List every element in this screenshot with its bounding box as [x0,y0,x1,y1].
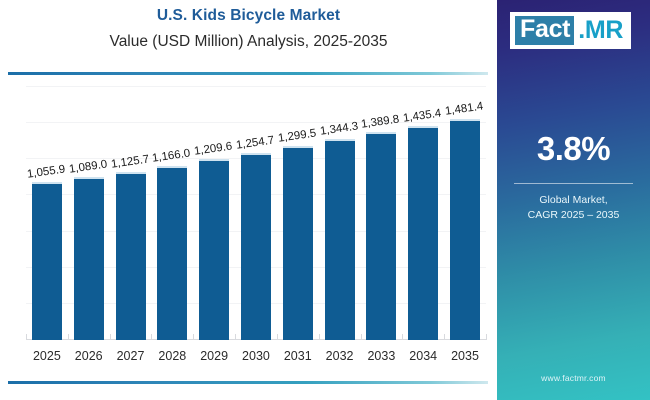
bar-slot: 1,481.4 [444,86,486,340]
tick-mark [361,334,362,340]
bar-value-label: 1,055.9 [26,164,66,181]
bar-slot: 1,055.9 [26,86,68,340]
cagr-value: 3.8% [497,130,650,168]
chart-header: U.S. Kids Bicycle Market Value (USD Mill… [0,6,497,53]
x-tick: 2035 [444,340,486,370]
tick-mark [277,334,278,340]
x-tick: 2030 [235,340,277,370]
x-tick-label: 2031 [277,340,319,363]
x-tick-label: 2026 [68,340,110,363]
page-subtitle: Value (USD Million) Analysis, 2025-2035 [0,31,497,53]
bar-slot: 1,089.0 [68,86,110,340]
bar-slot: 1,299.5 [277,86,319,340]
cagr-caption-line-1: Global Market, [497,193,650,208]
cagr-divider [514,183,633,184]
factmr-logo[interactable]: Fact .MR [510,12,631,49]
bar-value-label: 1,344.3 [319,121,359,138]
x-tick-label: 2029 [193,340,235,363]
chart-panel: U.S. Kids Bicycle Market Value (USD Mill… [0,0,497,400]
x-tick-label: 2028 [151,340,193,363]
x-tick: 2034 [402,340,444,370]
x-tick: 2032 [319,340,361,370]
tick-mark [110,334,111,340]
x-tick: 2028 [151,340,193,370]
bar[interactable] [366,132,396,340]
bar[interactable] [283,146,313,340]
x-tick-label: 2032 [319,340,361,363]
bar[interactable] [325,139,355,340]
bar-slot: 1,125.7 [110,86,152,340]
x-tick-label: 2030 [235,340,277,363]
bar-value-label: 1,254.7 [235,134,275,151]
bar-value-label: 1,481.4 [444,100,484,117]
tick-mark [68,334,69,340]
website-url: www.factmr.com [497,373,650,383]
bar-value-label: 1,389.8 [361,114,401,131]
tick-mark [26,334,27,340]
x-tick: 2029 [193,340,235,370]
x-tick-label: 2035 [444,340,486,363]
logo-fact-text: Fact [514,15,575,46]
bar-slot: 1,389.8 [361,86,403,340]
tick-mark [444,334,445,340]
bar-value-label: 1,209.6 [193,141,233,158]
x-tick-label: 2025 [26,340,68,363]
bar[interactable] [32,182,62,340]
bar-slot: 1,344.3 [319,86,361,340]
bar-slot: 1,435.4 [402,86,444,340]
tick-mark [151,334,152,340]
bar[interactable] [241,153,271,340]
bar[interactable] [116,172,146,340]
bar-value-label: 1,089.0 [68,159,108,176]
x-tick: 2027 [110,340,152,370]
logo-mr-text: .MR [575,18,626,43]
tick-mark [319,334,320,340]
x-tick: 2026 [68,340,110,370]
bar-value-label: 1,299.5 [277,127,317,144]
bar-slot: 1,166.0 [151,86,193,340]
bar[interactable] [450,119,480,340]
infographic-container: U.S. Kids Bicycle Market Value (USD Mill… [0,0,650,400]
page-title: U.S. Kids Bicycle Market [0,6,497,26]
footer-divider [8,381,488,384]
plot-area: 1,055.91,089.01,125.71,166.01,209.61,254… [12,86,486,340]
tick-mark [235,334,236,340]
bar-slot: 1,254.7 [235,86,277,340]
brand-panel: Fact .MR 3.8% Global Market, CAGR 2025 –… [497,0,650,400]
x-tick: 2025 [26,340,68,370]
x-tick-label: 2033 [361,340,403,363]
header-divider [8,72,488,75]
bar-value-label: 1,435.4 [403,107,443,124]
tick-mark [402,334,403,340]
x-tick-label: 2027 [110,340,152,363]
x-tick: 2031 [277,340,319,370]
bar[interactable] [74,177,104,340]
bar-value-label: 1,125.7 [110,153,150,170]
bar-series: 1,055.91,089.01,125.71,166.01,209.61,254… [26,86,486,340]
bar-value-label: 1,166.0 [152,147,192,164]
bar[interactable] [199,159,229,340]
x-tick-label: 2034 [402,340,444,363]
x-axis-labels: 2025202620272028202920302031203220332034… [26,340,486,370]
cagr-caption: Global Market, CAGR 2025 – 2035 [497,193,650,223]
bar-slot: 1,209.6 [193,86,235,340]
tick-mark [486,334,487,340]
bar[interactable] [157,166,187,340]
x-tick: 2033 [361,340,403,370]
tick-mark [193,334,194,340]
bar[interactable] [408,126,438,340]
cagr-caption-line-2: CAGR 2025 – 2035 [497,208,650,223]
